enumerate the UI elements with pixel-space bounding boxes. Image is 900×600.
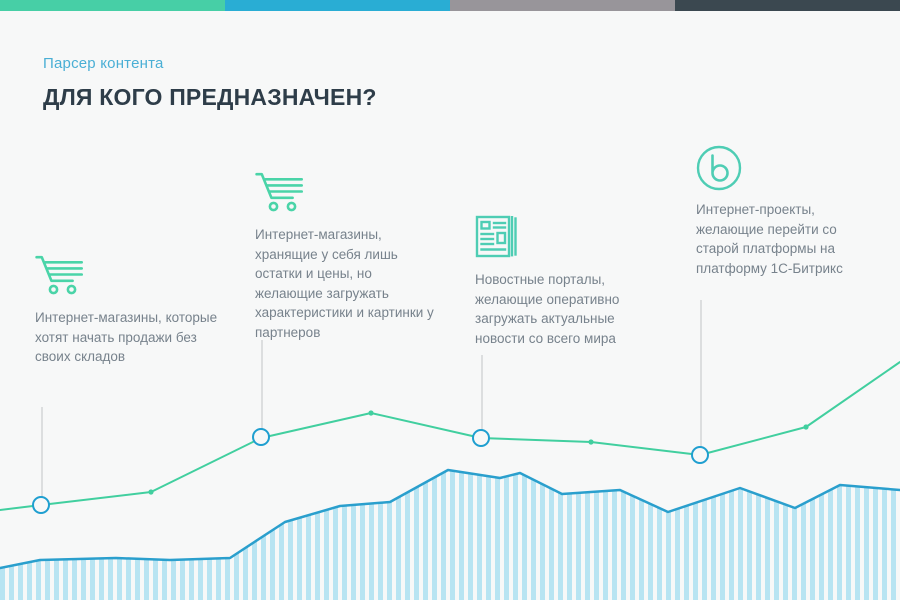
green-data-dot: [803, 424, 808, 429]
green-data-dot: [588, 439, 593, 444]
feature-caption: Новостные порталы, желающие оперативно з…: [475, 270, 655, 348]
segment-green: [0, 0, 225, 11]
segment-grey: [450, 0, 675, 11]
feature-caption: Интернет-проекты, желающие перейти со ст…: [696, 200, 881, 278]
bitrix-b-logo-icon: [696, 145, 881, 195]
header-block: Парсер контента ДЛЯ КОГО ПРЕДНАЗНАЧЕН?: [43, 54, 377, 110]
connector-stem-4: [700, 300, 702, 455]
feature-block-1: Интернет-магазины, которые хотят начать …: [35, 255, 225, 367]
feature-block-2: Интернет-магазины, хранящие у себя лишь …: [255, 172, 435, 342]
marker-3[interactable]: [472, 429, 490, 447]
marker-1[interactable]: [32, 496, 50, 514]
blue-area-fill: [0, 470, 900, 600]
connector-stem-2: [261, 340, 263, 437]
marker-4[interactable]: [691, 446, 709, 464]
eyebrow-label: Парсер контента: [43, 54, 377, 74]
feature-caption: Интернет-магазины, которые хотят начать …: [35, 308, 225, 367]
marker-2[interactable]: [252, 428, 270, 446]
chart-svg: [0, 330, 900, 600]
newspaper-icon: [475, 215, 655, 265]
background-chart: [0, 330, 900, 600]
segment-dark: [675, 0, 900, 11]
feature-block-3: Новостные порталы, желающие оперативно з…: [475, 215, 655, 348]
shopping-cart-icon: [35, 255, 225, 305]
segment-blue: [225, 0, 450, 11]
connector-stem-3: [481, 355, 483, 438]
page-title: ДЛЯ КОГО ПРЕДНАЗНАЧЕН?: [43, 84, 377, 110]
slide-canvas: Парсер контента ДЛЯ КОГО ПРЕДНАЗНАЧЕН? И…: [0, 0, 900, 600]
feature-block-4: Интернет-проекты, желающие перейти со ст…: [696, 145, 881, 278]
shopping-cart-icon: [255, 172, 435, 222]
green-data-dot: [368, 410, 373, 415]
feature-caption: Интернет-магазины, хранящие у себя лишь …: [255, 225, 435, 342]
connector-stem-1: [41, 407, 43, 505]
green-data-dot: [148, 489, 153, 494]
top-color-bar: [0, 0, 900, 11]
